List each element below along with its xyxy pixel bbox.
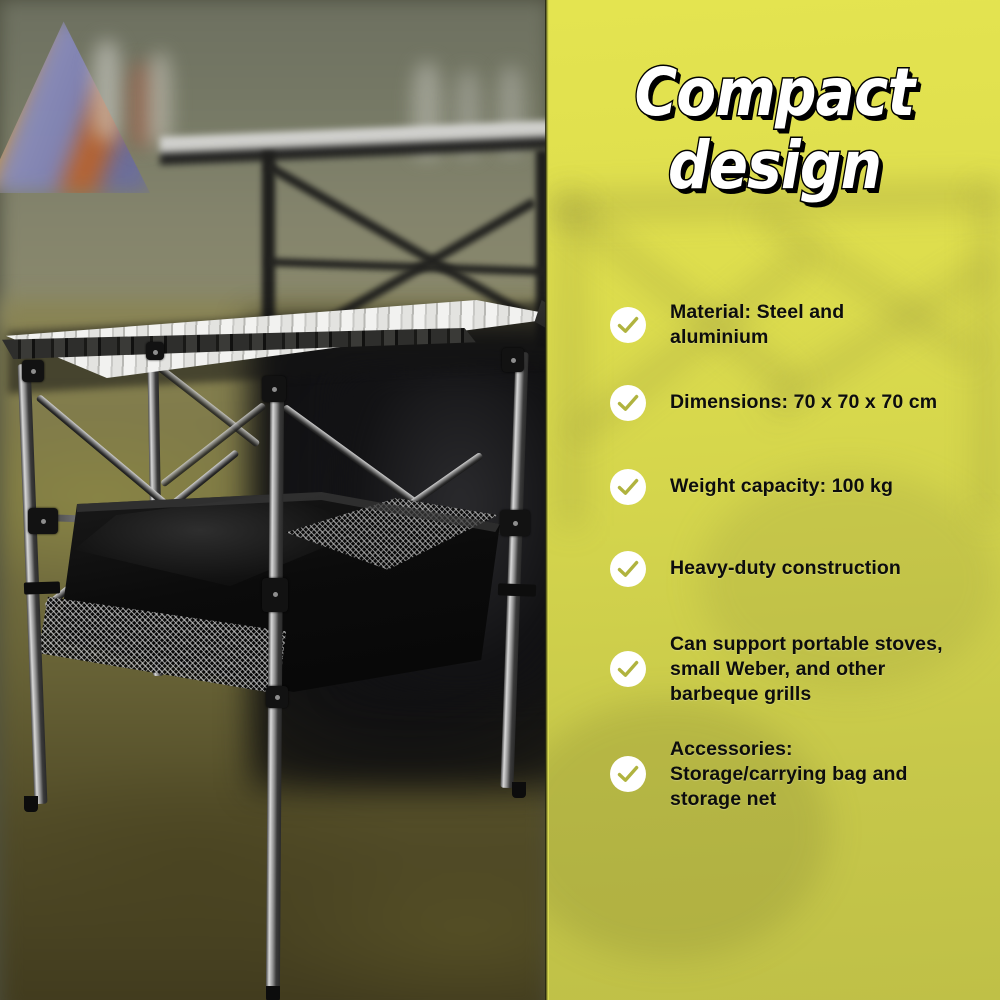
check-circle-icon [609, 468, 647, 506]
leg-foot-cap [266, 986, 280, 1000]
check-circle-icon [609, 650, 647, 688]
feature-item: Accessories: Storage/carrying bag and st… [609, 737, 1000, 812]
feature-item: Dimensions: 70 x 70 x 70 cm [609, 384, 1000, 422]
folding-camp-table [0, 286, 549, 886]
leg-strap [498, 583, 536, 596]
feature-item: Material: Steel and aluminium [609, 300, 1000, 350]
frame-joint [266, 686, 288, 708]
page-title: Compact design [549, 62, 1000, 197]
feature-item: Can support portable stoves, small Weber… [609, 632, 1000, 707]
feature-text: Can support portable stoves, small Weber… [670, 632, 943, 707]
leg-strap [24, 581, 60, 594]
frame-joint [502, 348, 524, 372]
feature-item: Heavy-duty construction [609, 550, 1000, 588]
feature-text: Material: Steel and aluminium [670, 300, 844, 350]
feature-item: Weight capacity: 100 kg [609, 468, 1000, 506]
check-circle-icon [609, 384, 647, 422]
frame-joint [500, 510, 530, 536]
headline-line-2: design [576, 135, 973, 196]
feature-panel: Compact design Material: Steel and alumi… [549, 0, 1000, 1000]
frame-joint [146, 342, 164, 360]
frame-joint [22, 360, 44, 382]
leg-foot-cap [512, 782, 526, 798]
ghost-leg [563, 196, 579, 526]
check-circle-icon [609, 755, 647, 793]
feature-text: Accessories: Storage/carrying bag and st… [670, 737, 908, 812]
feature-list: Material: Steel and aluminium Dimensions… [609, 300, 1000, 812]
background-camper [92, 40, 122, 140]
table-leg-right [500, 352, 528, 788]
check-circle-icon [609, 306, 647, 344]
product-photo [0, 0, 549, 1000]
headline-line-1: Compact [576, 62, 973, 123]
check-circle-icon [609, 550, 647, 588]
frame-joint [262, 376, 286, 402]
frame-joint [28, 508, 58, 534]
leg-foot-cap [24, 796, 38, 812]
feature-text: Dimensions: 70 x 70 x 70 cm [670, 390, 937, 415]
feature-text: Weight capacity: 100 kg [670, 474, 893, 499]
feature-text: Heavy-duty construction [670, 556, 901, 581]
frame-joint [262, 578, 288, 612]
background-camper [148, 52, 172, 146]
product-feature-poster: Compact design Material: Steel and alumi… [0, 0, 1000, 1000]
